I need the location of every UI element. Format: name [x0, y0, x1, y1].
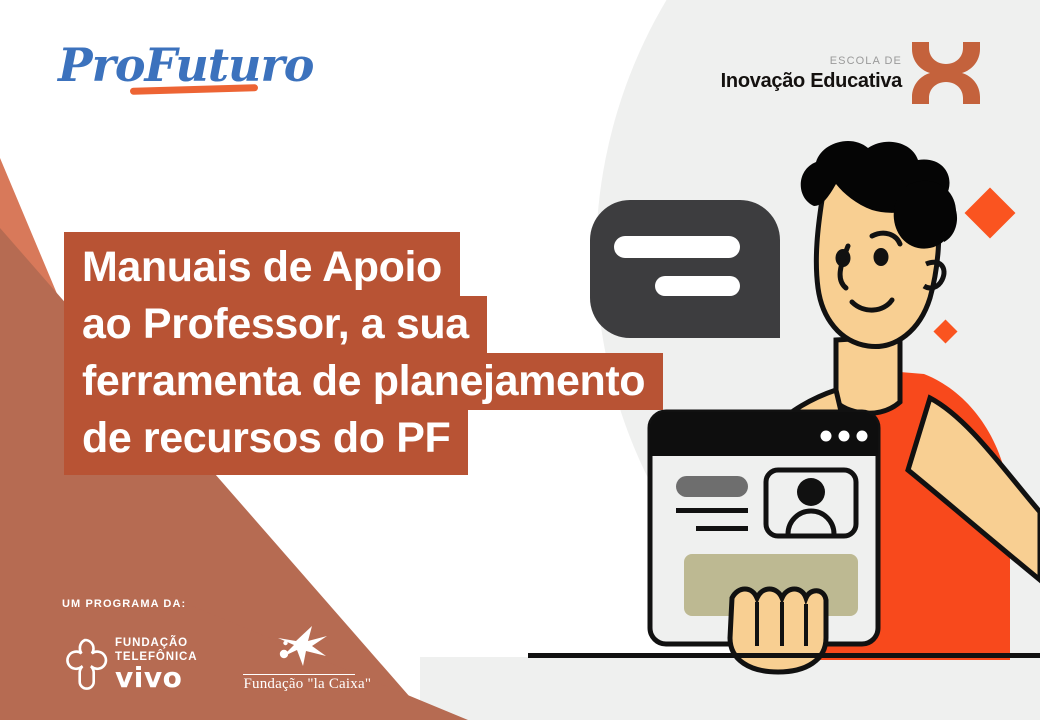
headline-line-2: ao Professor, a sua — [64, 296, 487, 353]
page-title: Manuais de Apoio ao Professor, a sua fer… — [64, 232, 764, 475]
headline-line-1: Manuais de Apoio — [64, 232, 460, 296]
la-caixa-name: Fundação "la Caixa" — [243, 674, 355, 693]
sponsors-block: UM PROGRAMA DA: FUNDAÇÃO TELEFÔNICA vivo — [62, 598, 392, 693]
sponsor-logo-row: FUNDAÇÃO TELEFÔNICA vivo Fundação "la Ca… — [62, 624, 392, 693]
headline-line-3: ferramenta de planejamento — [64, 353, 663, 410]
profuturo-logo: ProFuturo — [58, 40, 288, 102]
vivo-wordmark: vivo — [115, 664, 197, 692]
telefonica-person-icon — [62, 637, 108, 693]
la-caixa-star-icon — [268, 624, 330, 668]
escola-logo-text: ESCOLA DE Inovação Educativa — [721, 56, 902, 91]
escola-inovacao-logo: ESCOLA DE Inovação Educativa — [721, 42, 982, 104]
headline-line-4: de recursos do PF — [64, 410, 468, 475]
profuturo-wordmark: ProFuturo — [58, 40, 288, 90]
escola-name: Inovação Educativa — [721, 71, 902, 91]
desk-line — [528, 653, 1040, 658]
fundacao-telefonica-vivo-logo: FUNDAÇÃO TELEFÔNICA vivo — [62, 637, 197, 693]
slide-canvas: ProFuturo ESCOLA DE Inovação Educativa — [0, 0, 1040, 720]
telefonica-line-1: FUNDAÇÃO — [115, 638, 197, 650]
telefonica-text: FUNDAÇÃO TELEFÔNICA vivo — [115, 638, 197, 692]
escola-eyebrow: ESCOLA DE — [721, 56, 902, 67]
fundacao-la-caixa-logo: Fundação "la Caixa" — [243, 624, 355, 693]
x-logo-icon — [910, 42, 982, 104]
sponsors-kicker: UM PROGRAMA DA: — [62, 598, 392, 610]
